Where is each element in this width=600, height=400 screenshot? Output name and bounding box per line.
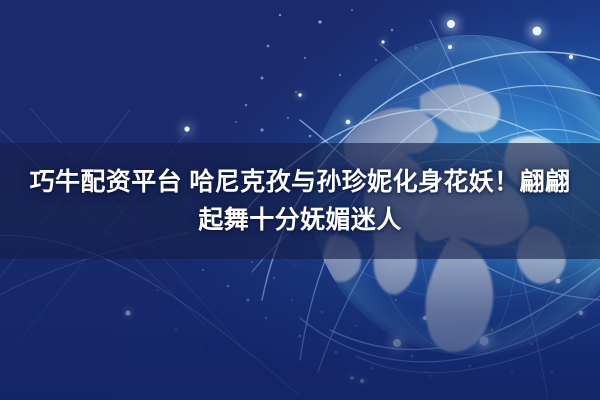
banner-image: 巧牛配资平台 哈尼克孜与孙珍妮化身花妖！翩翩 起舞十分妩媚迷人: [0, 0, 600, 400]
headline-line-2: 起舞十分妩媚迷人: [198, 202, 401, 238]
headline-line-1: 巧牛配资平台 哈尼克孜与孙珍妮化身花妖！翩翩: [30, 164, 571, 200]
headline-block: 巧牛配资平台 哈尼克孜与孙珍妮化身花妖！翩翩 起舞十分妩媚迷人: [0, 143, 600, 259]
